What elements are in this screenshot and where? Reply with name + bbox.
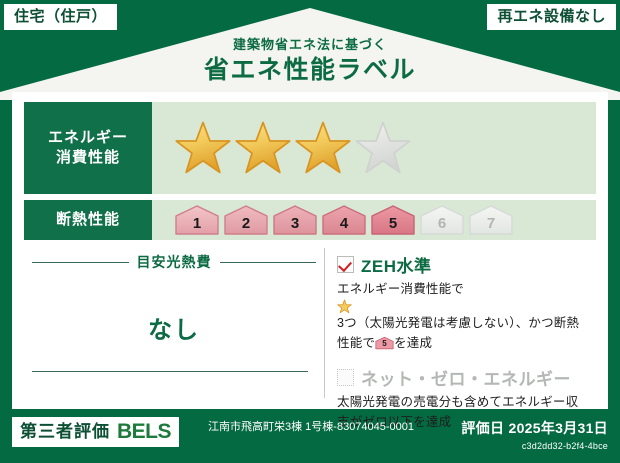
property-address: 江南市飛高町栄3棟 1号棟-83074045-0001 xyxy=(208,420,423,435)
house-badge-7: 7 xyxy=(468,204,514,236)
star-icon-filled-2 xyxy=(234,119,292,177)
energy-performance-value-cell xyxy=(152,102,596,194)
bels-logo-jp: 第三者評価 xyxy=(20,423,110,440)
utility-cost-heading: 目安光熱費 xyxy=(24,252,324,272)
label-title-block: 建築物省エネ法に基づく 省エネ性能ラベル xyxy=(0,38,620,85)
zeh-standard-header: ZEH水準 xyxy=(337,252,590,277)
evaluation-hash: c3d2dd32-b2f4-4bce xyxy=(461,441,608,451)
house-badge-1: 1 xyxy=(174,204,220,236)
heading-rule-right xyxy=(220,262,317,263)
building-type-tag: 住宅（住戸） xyxy=(4,4,117,30)
zeh-standard-description: エネルギー消費性能で3つ（太陽光発電は考慮しない）、かつ断熱性能で5を達成 xyxy=(337,280,590,353)
house-badge-label-2: 2 xyxy=(223,204,269,236)
page-title: 省エネ性能ラベル xyxy=(0,57,620,85)
insulation-performance-row: 断熱性能 1 xyxy=(24,200,596,240)
house-badge-label-5: 5 xyxy=(370,204,416,236)
evaluation-date-block: 評価日 2025年3月31日 c3d2dd32-b2f4-4bce xyxy=(461,418,608,451)
star-icon-filled-1 xyxy=(174,119,232,177)
house-badge-2: 2 xyxy=(223,204,269,236)
zeh-standard-label: ZEH水準 xyxy=(361,252,432,277)
utility-cost-value: なし xyxy=(24,310,324,345)
bels-logo: 第三者評価 BELS xyxy=(12,417,179,447)
utility-cost-section: 目安光熱費 なし xyxy=(24,248,324,398)
zeh-section: ZEH水準 エネルギー消費性能で3つ（太陽光発電は考慮しない）、かつ断熱性能で5… xyxy=(324,248,596,398)
utility-cost-heading-text: 目安光熱費 xyxy=(137,252,212,272)
insulation-level-scale: 1 2 xyxy=(174,204,514,236)
utility-cost-bottom-rule xyxy=(32,371,308,372)
evaluation-date: 評価日 2025年3月31日 xyxy=(461,418,608,438)
renewable-energy-tag: 再エネ設備なし xyxy=(487,4,616,30)
title-subtitle: 建築物省エネ法に基づく xyxy=(0,38,620,52)
house-badge-6: 6 xyxy=(419,204,465,236)
evaluation-date-label: 評価日 xyxy=(461,420,504,436)
energy-performance-label: 住宅（住戸） 再エネ設備なし 建築物省エネ法に基づく 省エネ性能ラベル エネルギ… xyxy=(0,0,620,463)
house-badge-label-1: 1 xyxy=(174,204,220,236)
insulation-label-line1: 断熱性能 xyxy=(56,210,120,230)
star-rating xyxy=(174,119,412,177)
net-zero-energy-header: ネット・ゼロ・エネルギー xyxy=(337,365,590,390)
house-badge-label-6: 6 xyxy=(419,204,465,236)
insulation-performance-value-cell: 1 2 xyxy=(152,200,596,240)
house-badge-3: 3 xyxy=(272,204,318,236)
house-badge-inline-label: 5 xyxy=(375,336,394,350)
checkbox-checked-icon[interactable] xyxy=(337,256,354,273)
heading-rule-left xyxy=(32,262,129,263)
zeh-desc-part-a: エネルギー消費性能で xyxy=(337,282,464,296)
house-badge-label-3: 3 xyxy=(272,204,318,236)
insulation-performance-label-cell: 断熱性能 xyxy=(24,200,152,240)
lower-section: 目安光熱費 なし ZEH水準 エネルギー消費性能で3つ（太陽光発電は考慮しない）… xyxy=(24,248,596,398)
house-badge-label-4: 4 xyxy=(321,204,367,236)
house-badge-label-7: 7 xyxy=(468,204,514,236)
star-icon-empty-4 xyxy=(354,119,412,177)
house-badge-inline: 5 xyxy=(375,336,394,350)
label-body-panel: エネルギー 消費性能 xyxy=(12,92,608,409)
label-footer: 第三者評価 BELS 江南市飛高町栄3棟 1号棟-83074045-0001 評… xyxy=(0,409,620,463)
energy-performance-row: エネルギー 消費性能 xyxy=(24,102,596,194)
star-icon-inline xyxy=(337,299,352,314)
zeh-desc-part-c: を達成 xyxy=(394,336,432,350)
net-zero-energy-label: ネット・ゼロ・エネルギー xyxy=(361,365,571,390)
house-badge-4: 4 xyxy=(321,204,367,236)
house-badge-5: 5 xyxy=(370,204,416,236)
bels-logo-en: BELS xyxy=(117,421,171,442)
energy-label-line1: エネルギー xyxy=(48,128,128,148)
star-icon-filled-3 xyxy=(294,119,352,177)
energy-performance-label-cell: エネルギー 消費性能 xyxy=(24,102,152,194)
checkbox-unchecked-icon[interactable] xyxy=(337,369,354,386)
zeh-desc-part-b: 3つ（太陽光発電は考慮しない）、かつ断熱性能で xyxy=(337,316,579,349)
evaluation-date-value: 2025年3月31日 xyxy=(508,420,608,436)
energy-label-line2: 消費性能 xyxy=(56,148,120,168)
